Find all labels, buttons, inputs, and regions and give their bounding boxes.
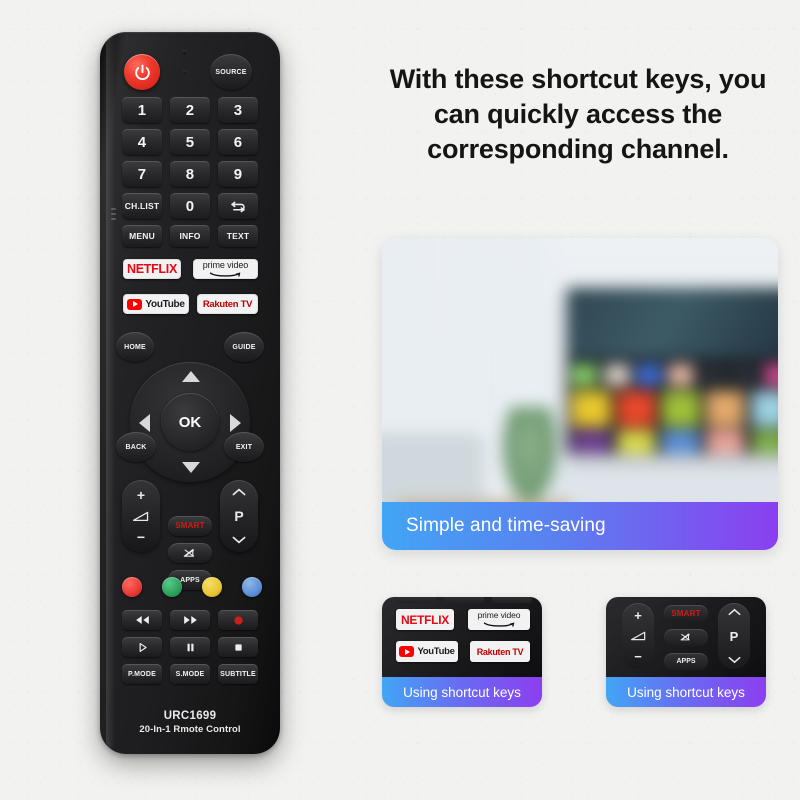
- headline-text: With these shortcut keys, you can quickl…: [368, 62, 788, 167]
- repeat-icon: [228, 199, 248, 214]
- keypad-3[interactable]: 3: [218, 97, 258, 123]
- volume-rocker[interactable]: + −: [122, 480, 160, 552]
- chevron-down-icon[interactable]: [728, 656, 741, 664]
- thumb-youtube-button[interactable]: YouTube: [396, 641, 458, 662]
- record-button[interactable]: [218, 610, 258, 630]
- youtube-shortcut-button[interactable]: YouTube: [123, 294, 189, 314]
- keypad-4[interactable]: 4: [122, 129, 162, 155]
- thumbnail-apps-photo: NETFLIX prime video YouTube Rakuten TV: [382, 597, 542, 677]
- thumb-volume-rocker[interactable]: + −: [622, 603, 654, 669]
- thumb-netflix-button[interactable]: NETFLIX: [396, 609, 454, 630]
- prime-video-shortcut-button[interactable]: prime video: [193, 259, 258, 279]
- source-button[interactable]: SOURCE: [210, 54, 252, 90]
- netflix-logo: NETFLIX: [127, 262, 177, 276]
- pause-button[interactable]: [170, 637, 210, 657]
- stop-icon: [233, 642, 244, 653]
- smart-button[interactable]: SMART: [168, 516, 212, 536]
- keypad-9[interactable]: 9: [218, 161, 258, 187]
- channel-label: P: [234, 509, 243, 523]
- thumb-rakuten-logo: Rakuten TV: [477, 647, 524, 657]
- thumb-smart-button[interactable]: SMART: [664, 605, 708, 622]
- keypad-1[interactable]: 1: [122, 97, 162, 123]
- thumb-stub-key-2: [444, 597, 484, 603]
- thumb-youtube-logo: YouTube: [399, 646, 454, 657]
- thumb-prime-video-logo: prime video: [478, 611, 521, 628]
- power-button[interactable]: [124, 54, 160, 90]
- keypad-6[interactable]: 6: [218, 129, 258, 155]
- thumbnail-card-keys[interactable]: + − SMART APPS P Using shortcut keys: [606, 597, 766, 707]
- amazon-smile-icon: [208, 271, 242, 278]
- thumb-mute-button[interactable]: [664, 629, 708, 646]
- volume-down-button[interactable]: −: [137, 530, 145, 544]
- model-info: URC1699 20-In-1 Rmote Control: [100, 710, 280, 735]
- dpad-down-button[interactable]: [182, 462, 200, 473]
- thumb-volume-up[interactable]: +: [634, 608, 642, 623]
- youtube-logo: YouTube: [127, 299, 184, 310]
- mute-button[interactable]: [168, 543, 212, 563]
- thumb-volume-down[interactable]: −: [634, 649, 642, 664]
- picture-mode-button[interactable]: P.MODE: [122, 664, 162, 684]
- tv-app-row-1: [572, 364, 778, 385]
- ir-sensor-dot-2: [183, 70, 187, 74]
- repeat-button[interactable]: [218, 193, 258, 219]
- prime-video-logo: prime video: [203, 261, 248, 278]
- thumb-channel-rocker[interactable]: P: [718, 603, 750, 669]
- color-button-green[interactable]: [162, 577, 182, 597]
- keypad-5[interactable]: 5: [170, 129, 210, 155]
- ch-list-button[interactable]: CH.LIST: [122, 193, 162, 219]
- mute-icon: [182, 547, 199, 560]
- rewind-button[interactable]: [122, 610, 162, 630]
- status-led-strip: [111, 208, 118, 230]
- dpad-up-button[interactable]: [182, 371, 200, 382]
- volume-icon: [132, 511, 150, 522]
- thumbnail-card-apps[interactable]: NETFLIX prime video YouTube Rakuten TV: [382, 597, 542, 707]
- play-icon: [137, 642, 148, 653]
- remote-control-device: SOURCE 1 2 3 4 5 6 7 8 9 CH.LIST 0 MENU …: [100, 32, 280, 754]
- subtitle-button[interactable]: SUBTITLE: [218, 664, 258, 684]
- smart-label: SMART: [175, 522, 204, 530]
- thumb-stub-key-3: [492, 597, 532, 603]
- sound-mode-button[interactable]: S.MODE: [170, 664, 210, 684]
- color-button-yellow[interactable]: [202, 577, 222, 597]
- color-button-red[interactable]: [122, 577, 142, 597]
- dpad-left-button[interactable]: [139, 414, 150, 432]
- thumb-stub-key-1: [396, 597, 436, 603]
- youtube-play-icon: [127, 299, 142, 310]
- thumbnail-keys-photo: + − SMART APPS P: [606, 597, 766, 677]
- channel-rocker[interactable]: P: [220, 480, 258, 552]
- info-button[interactable]: INFO: [170, 225, 210, 247]
- photo-caption: Simple and time-saving: [382, 502, 778, 550]
- youtube-play-icon: [399, 646, 414, 657]
- model-subtitle: 20-In-1 Rmote Control: [100, 724, 280, 735]
- smart-tv: [567, 288, 778, 453]
- thumb-rakuten-button[interactable]: Rakuten TV: [470, 641, 530, 662]
- lifestyle-photo-card: Simple and time-saving: [382, 238, 778, 550]
- play-button[interactable]: [122, 637, 162, 657]
- tv-hero-banner: [567, 288, 778, 357]
- rewind-icon: [133, 615, 152, 625]
- rakuten-tv-shortcut-button[interactable]: Rakuten TV: [197, 294, 258, 314]
- thumb-channel-label: P: [730, 629, 739, 644]
- thumb-prime-video-button[interactable]: prime video: [468, 609, 530, 630]
- dpad-right-button[interactable]: [230, 414, 241, 432]
- stop-button[interactable]: [218, 637, 258, 657]
- tv-app-row-2: [572, 391, 778, 427]
- rakuten-tv-logo: Rakuten TV: [203, 299, 252, 310]
- fast-forward-icon: [181, 615, 200, 625]
- model-number: URC1699: [100, 710, 280, 722]
- thumb-smart-label: SMART: [671, 609, 700, 618]
- text-button[interactable]: TEXT: [218, 225, 258, 247]
- ir-sensor-dot-1: [182, 50, 187, 55]
- power-icon: [133, 63, 152, 82]
- back-button[interactable]: BACK: [116, 432, 156, 462]
- dpad-navigation[interactable]: OK: [130, 362, 250, 482]
- home-button[interactable]: HOME: [116, 332, 154, 362]
- pause-icon: [185, 642, 196, 653]
- keypad-2[interactable]: 2: [170, 97, 210, 123]
- tv-app-row-3: [572, 430, 778, 453]
- record-icon: [233, 615, 244, 626]
- mute-icon: [679, 632, 694, 643]
- thumbnail-caption-keys: Using shortcut keys: [606, 677, 766, 707]
- volume-icon: [630, 631, 647, 641]
- chevron-up-icon[interactable]: [232, 488, 246, 496]
- chevron-down-icon[interactable]: [232, 536, 246, 544]
- exit-button[interactable]: EXIT: [224, 432, 264, 462]
- amazon-smile-icon: [482, 621, 516, 628]
- netflix-shortcut-button[interactable]: NETFLIX: [123, 259, 181, 279]
- fast-forward-button[interactable]: [170, 610, 210, 630]
- thumb-apps-button[interactable]: APPS: [664, 653, 708, 670]
- house-plant: [500, 407, 559, 506]
- thumb-netflix-logo: NETFLIX: [401, 613, 449, 627]
- keypad-8[interactable]: 8: [170, 161, 210, 187]
- keypad-7[interactable]: 7: [122, 161, 162, 187]
- ok-button[interactable]: OK: [161, 393, 219, 451]
- guide-button[interactable]: GUIDE: [224, 332, 264, 362]
- chevron-up-icon[interactable]: [728, 608, 741, 616]
- keypad-0[interactable]: 0: [170, 193, 210, 219]
- volume-up-button[interactable]: +: [137, 488, 145, 502]
- product-marketing-image: SOURCE 1 2 3 4 5 6 7 8 9 CH.LIST 0 MENU …: [0, 0, 800, 800]
- thumbnail-caption-apps: Using shortcut keys: [382, 677, 542, 707]
- menu-button[interactable]: MENU: [122, 225, 162, 247]
- color-button-blue[interactable]: [242, 577, 262, 597]
